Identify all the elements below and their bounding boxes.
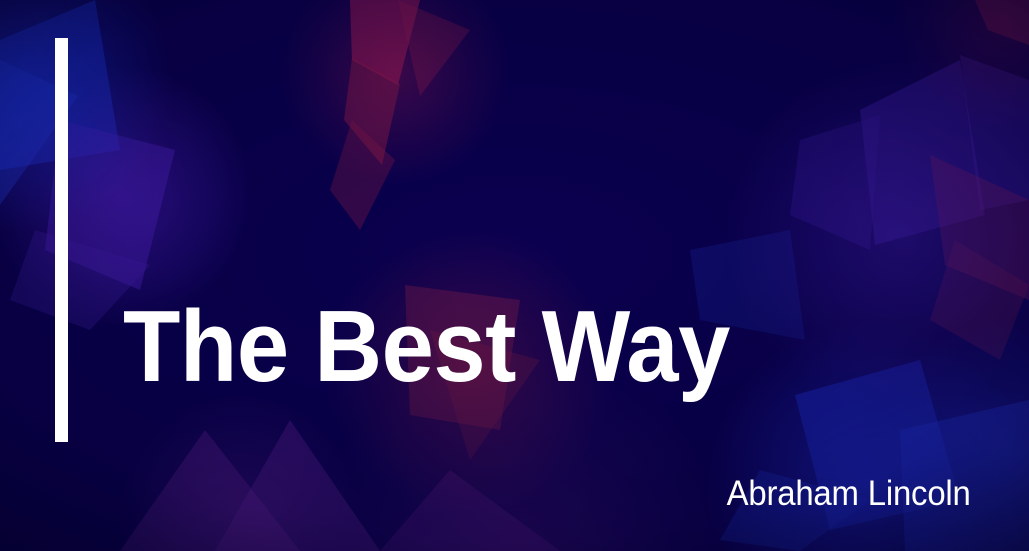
- vertical-accent-bar: [55, 38, 68, 442]
- quote-attribution: Abraham Lincoln: [727, 474, 971, 514]
- quote-graphic-canvas: The Best Way To Predict Your Future is t…: [0, 0, 1029, 551]
- headline-line-1: The Best Way: [123, 296, 867, 399]
